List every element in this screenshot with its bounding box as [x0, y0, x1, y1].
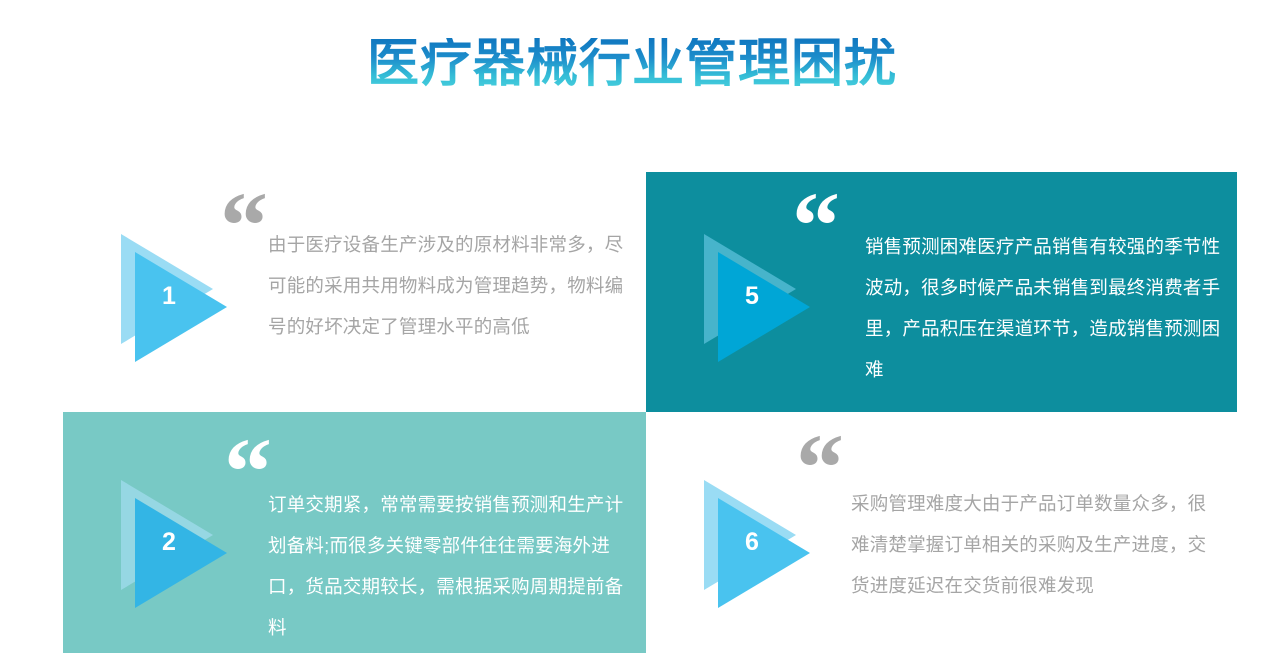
badge-number: 6: [734, 530, 770, 555]
quote-mark-icon: “: [220, 178, 268, 274]
quote-mark-icon: “: [796, 420, 844, 516]
quote-card-1: 1 “ 由于医疗设备生产涉及的原材料非常多，尽可能的采用共用物料成为管理趋势，物…: [63, 172, 646, 412]
card-body-text: 销售预测困难医疗产品销售有较强的季节性波动，很多时候产品未销售到最终消费者手里，…: [865, 226, 1227, 390]
quote-mark-icon: “: [792, 178, 840, 274]
page-title: 医疗器械行业管理困扰: [367, 38, 897, 90]
quote-mark-icon: “: [224, 424, 272, 520]
quote-card-2: 2 “ 订单交期紧，常常需要按销售预测和生产计划备料;而很多关键零部件往往需要海…: [63, 412, 646, 653]
quote-card-6: 6 “ 采购管理难度大由于产品订单数量众多，很难清楚掌握订单相关的采购及生产进度…: [646, 412, 1237, 653]
badge-number: 2: [151, 530, 187, 555]
number-badge-2: 2: [121, 480, 239, 608]
card-body-text: 由于医疗设备生产涉及的原材料非常多，尽可能的采用共用物料成为管理趋势，物料编号的…: [268, 224, 628, 347]
badge-number: 1: [151, 284, 187, 309]
title-bar: 医疗器械行业管理困扰: [0, 0, 1264, 128]
card-body-text: 采购管理难度大由于产品订单数量众多，很难清楚掌握订单相关的采购及生产进度，交货进…: [851, 483, 1221, 606]
badge-number: 5: [734, 284, 770, 309]
quote-card-5: 5 “ 销售预测困难医疗产品销售有较强的季节性波动，很多时候产品未销售到最终消费…: [646, 172, 1237, 412]
card-body-text: 订单交期紧，常常需要按销售预测和生产计划备料;而很多关键零部件往往需要海外进口，…: [268, 484, 630, 648]
